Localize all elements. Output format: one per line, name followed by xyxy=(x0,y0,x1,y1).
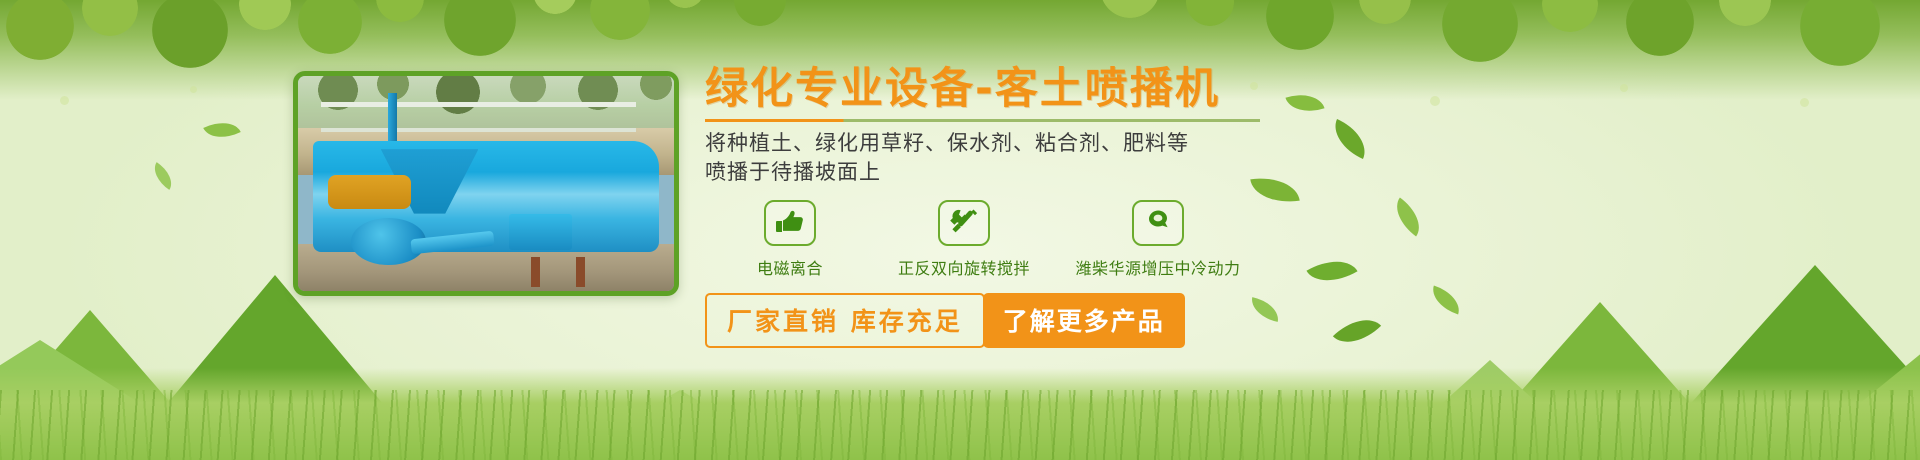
engine-icon xyxy=(1142,208,1174,238)
grass-strip xyxy=(0,368,1920,460)
feature-item-bidirectional-mixing: 正反双向旋转搅拌 xyxy=(875,200,1053,279)
title-underline xyxy=(705,119,1260,122)
thumbs-up-icon xyxy=(775,208,805,238)
banner-content: 绿化专业设备-客土喷播机 将种植土、绿化用草籽、保水剂、粘合剂、肥料等 喷播于待… xyxy=(705,66,1405,348)
feature-list: 电磁离合 正反双向旋转搅拌 xyxy=(705,200,1405,279)
banner-subtitle: 将种植土、绿化用草籽、保水剂、粘合剂、肥料等 喷播于待播坡面上 xyxy=(705,129,1405,186)
promo-banner: 绿化专业设备-客土喷播机 将种植土、绿化用草籽、保水剂、粘合剂、肥料等 喷播于待… xyxy=(0,0,1920,460)
page-title: 绿化专业设备-客土喷播机 xyxy=(705,66,1405,112)
product-photo xyxy=(293,71,679,296)
subtitle-line-1: 将种植土、绿化用草籽、保水剂、粘合剂、肥料等 xyxy=(705,129,1405,157)
tools-icon xyxy=(949,207,979,239)
floating-leaf-icon xyxy=(148,162,179,190)
learn-more-button[interactable]: 了解更多产品 xyxy=(983,293,1185,348)
feature-label: 电磁离合 xyxy=(757,255,823,279)
feature-item-weichai-engine: 潍柴华源增压中冷动力 xyxy=(1053,200,1263,279)
feature-icon-box xyxy=(938,200,990,246)
feature-label: 正反双向旋转搅拌 xyxy=(898,255,1030,279)
feature-label: 潍柴华源增压中冷动力 xyxy=(1075,255,1240,279)
tagline-badge: 厂家直销 库存充足 xyxy=(705,293,985,348)
subtitle-line-2: 喷播于待播坡面上 xyxy=(705,158,1405,186)
cta-button-row: 厂家直销 库存充足 了解更多产品 xyxy=(705,293,1405,348)
feature-icon-box xyxy=(1132,200,1184,246)
feature-icon-box xyxy=(764,200,816,246)
feature-item-electromagnetic-clutch: 电磁离合 xyxy=(705,200,875,279)
